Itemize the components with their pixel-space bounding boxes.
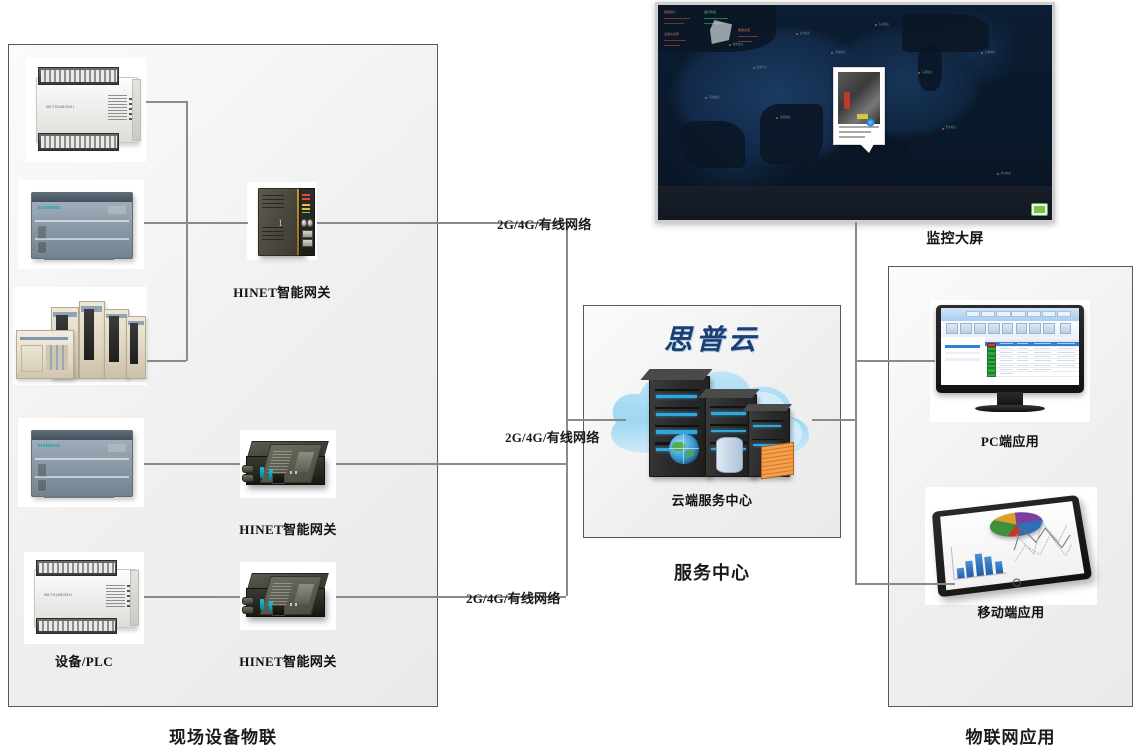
led-status (302, 198, 310, 200)
bar-chart-bar (957, 568, 965, 579)
network-label-top: 2G/4G/有线网络 (497, 214, 591, 233)
gateway-leds (290, 471, 300, 474)
antenna-connector (301, 219, 307, 227)
monitor-stand (997, 392, 1023, 407)
popup-device-photo (838, 72, 880, 124)
antenna-connector (242, 606, 255, 614)
plc-terminal-bottom (36, 618, 117, 634)
conn-bus-to-pc-app (855, 360, 935, 362)
conn-plc-rack-to-bus (147, 360, 186, 362)
plc-display (106, 583, 125, 607)
table-row (985, 372, 1079, 377)
device-gateway-box-1 (240, 430, 336, 498)
diagram-canvas: MITSUBISHI SIEMENS (0, 0, 1143, 752)
conn-cloud-to-apps-bus (812, 419, 856, 421)
plc-side-cover (130, 570, 139, 625)
popup-text-line (839, 131, 871, 133)
monitoring-big-screen: 报警统计 运行状态 设备在线率 数据总量 城市站点 监测节点 北方站点 中部站点… (655, 2, 1055, 223)
conn-bus-to-bigscreen (855, 222, 857, 224)
popup-text-line (839, 136, 865, 138)
screen-status-badge (1031, 203, 1048, 216)
siemens-logo: SIEMENS (38, 205, 61, 210)
device-plc-siemens-low: SIEMENS (18, 418, 144, 507)
firewall-icon (761, 442, 794, 479)
indicator-teal (260, 467, 264, 478)
app-toolbar (941, 321, 1079, 339)
ethernet-port (302, 230, 314, 238)
bar-chart-bar (995, 561, 1003, 575)
landmass (760, 104, 823, 164)
gateway-shell: 1 (258, 188, 303, 256)
map-info-popup[interactable] (833, 67, 885, 145)
device-plc-mitsubishi-top: MITSUBISHI (26, 58, 146, 162)
plc-body: SIEMENS (31, 192, 134, 258)
gateway-display (293, 451, 314, 472)
device-plc-siemens-mid: SIEMENS (18, 180, 144, 269)
globe-icon (669, 434, 698, 465)
app-device-tree (941, 337, 986, 384)
plc-body: SIEMENS (31, 430, 134, 496)
landmass (918, 44, 942, 91)
tablet-frame (932, 495, 1093, 598)
plc-brandmark: MITSUBISHI (46, 104, 74, 109)
led-net (302, 204, 310, 206)
bar-chart-bar (985, 557, 994, 576)
device-pc-monitor (930, 300, 1090, 422)
bigscreen-caption: 监控大屏 (855, 228, 1055, 248)
cloud-brand-logo: 思普云 (664, 318, 760, 358)
ethernet-port (272, 473, 286, 484)
map-location-marker[interactable] (866, 118, 875, 127)
indicator-teal (260, 599, 264, 610)
landmass (902, 14, 989, 53)
plc-brandmark: MITSUBISHI (44, 592, 72, 597)
cloud-center-label: 云端服务中心 (671, 490, 752, 509)
led-power (302, 194, 310, 196)
popup-text-line (839, 126, 879, 128)
gateway-model-mark: 1 (278, 218, 283, 228)
antenna-connector (242, 597, 255, 605)
conn-plc-mitsu-low-to-gw (144, 596, 240, 598)
antenna-connector (242, 474, 255, 482)
plc-terminal-bottom (38, 133, 119, 151)
app-ribbon (941, 308, 1079, 320)
monitor-base (975, 405, 1045, 412)
led-signal (302, 208, 310, 210)
plc-terminal-top (36, 560, 117, 576)
siemens-logo: SIEMENS (38, 443, 61, 448)
plc-side-cover (132, 79, 141, 141)
plc-terminal-top (38, 67, 119, 85)
tablet-screen (940, 501, 1084, 590)
conn-bus-to-mobile-app (855, 583, 955, 585)
ethernet-port (302, 239, 314, 247)
plc-display (108, 93, 127, 120)
screen-bottom-strip (658, 186, 1052, 220)
database-icon (716, 437, 743, 473)
panel-apps-caption: 物联网应用 (888, 723, 1133, 748)
landmass (682, 121, 745, 168)
rack-front-unit (16, 330, 74, 379)
device-controller-rack (13, 287, 147, 385)
gateway-box-2-caption: HINET智能网关 (208, 651, 368, 670)
gateway-din-caption: HINET智能网关 (202, 282, 362, 301)
gateway-leds (290, 603, 300, 606)
gateway-front-face (299, 188, 315, 256)
plc-label (108, 206, 126, 214)
rack-module (126, 316, 147, 379)
device-gateway-din: 1 (247, 182, 317, 260)
led-link (302, 212, 310, 214)
gateway-display (293, 583, 314, 604)
device-plc-caption: 设备/PLC (24, 651, 144, 670)
conn-plc-mid-to-bus (144, 222, 248, 224)
monitor-screen (941, 308, 1079, 384)
device-tablet (925, 487, 1097, 605)
conn-field-bus-vertical (186, 101, 188, 361)
tablet-home-button[interactable] (1012, 578, 1021, 587)
antenna-connector (242, 465, 255, 473)
plc-label (108, 444, 126, 452)
conn-apps-bus-vertical (855, 222, 857, 584)
mobile-app-caption: 移动端应用 (925, 602, 1097, 621)
panel-service-caption: 服务中心 (583, 559, 841, 585)
ethernet-port (272, 605, 286, 616)
bar-chart-bar (966, 561, 974, 578)
conn-gw-box1-to-trunk (336, 463, 566, 465)
device-plc-mitsubishi-low: MITSUBISHI (24, 552, 144, 644)
bar-chart-bar (975, 554, 984, 577)
gateway-box-1-caption: HINET智能网关 (208, 519, 368, 538)
network-label-bottom: 2G/4G/有线网络 (466, 588, 560, 607)
rack-module (79, 301, 105, 379)
conn-trunk-to-cloud (566, 419, 626, 421)
monitor-bezel (936, 305, 1083, 393)
screen-hud-panel: 报警统计 运行状态 设备在线率 数据总量 (664, 10, 774, 52)
conn-plc-siemens-low-to-gw (144, 463, 240, 465)
network-label-middle: 2G/4G/有线网络 (505, 427, 599, 446)
conn-trunk-vertical (566, 222, 568, 596)
plc-top-cap (32, 193, 133, 202)
plc-top-cap (32, 431, 133, 440)
line-chart (1008, 510, 1077, 570)
conn-plc-top-to-bus (146, 101, 186, 103)
pc-app-caption: PC端应用 (930, 431, 1090, 450)
device-gateway-box-2 (240, 562, 336, 630)
popup-pointer (860, 144, 874, 153)
panel-field-caption: 现场设备物联 (8, 723, 438, 748)
cloud-service-graphic: 思普云 云端服务中 (600, 322, 824, 502)
antenna-connector (307, 219, 313, 227)
app-data-grid (985, 337, 1079, 384)
